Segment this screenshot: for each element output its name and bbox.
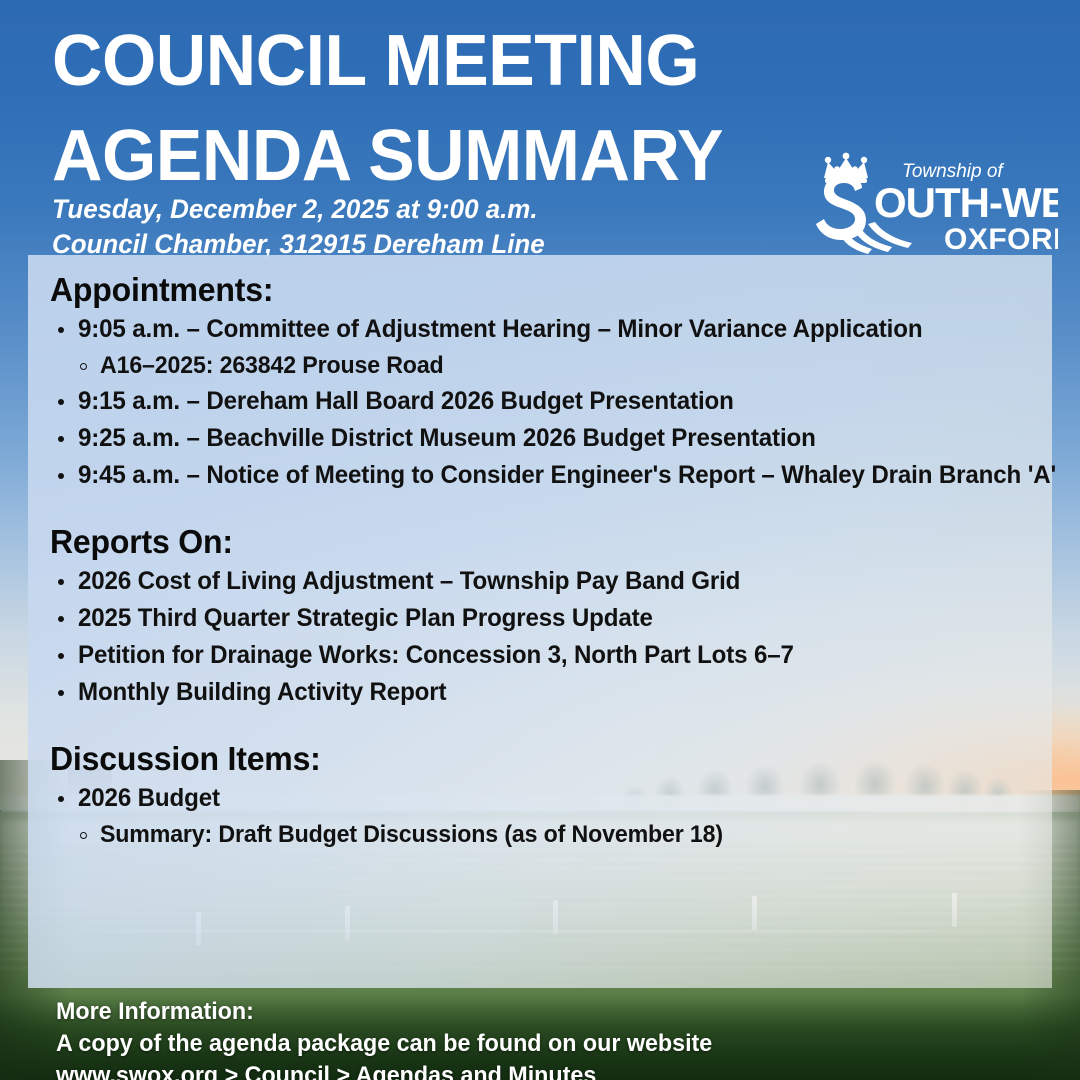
logo-line-main: OUTH-WEST (874, 179, 1058, 226)
agenda-list-level-1: 9:15 a.m. – Dereham Hall Board 2026 Budg… (54, 383, 1030, 493)
agenda-item: A16–2025: 263842 Prouse Road (76, 348, 1030, 383)
agenda-item: Petition for Drainage Works: Concession … (54, 637, 1030, 674)
footer-line: More Information: (56, 996, 793, 1028)
agenda-list-level-1: 9:05 a.m. – Committee of Adjustment Hear… (54, 311, 1030, 348)
footer-line[interactable]: www.swox.org > Council > Agendas and Min… (56, 1060, 793, 1080)
agenda-item-label: Petition for Drainage Works: Concession … (78, 637, 794, 674)
agenda-item-label: Monthly Building Activity Report (78, 674, 446, 711)
agenda-section: Appointments:9:05 a.m. – Committee of Ad… (50, 271, 1030, 493)
agenda-item: 2026 Cost of Living Adjustment – Townshi… (54, 563, 1030, 600)
agenda-item: 9:15 a.m. – Dereham Hall Board 2026 Budg… (54, 383, 1030, 420)
agenda-item-label: 9:15 a.m. – Dereham Hall Board 2026 Budg… (78, 383, 734, 420)
agenda-item: 2026 Budget (54, 780, 1030, 817)
agenda-panel: Appointments:9:05 a.m. – Committee of Ad… (28, 255, 1052, 988)
agenda-sections: Appointments:9:05 a.m. – Committee of Ad… (28, 271, 1052, 852)
section-heading: Reports On: (50, 523, 1001, 561)
title-line-2: AGENDA SUMMARY (52, 109, 723, 204)
poster-canvas: COUNCIL MEETING AGENDA SUMMARY Tuesday, … (0, 0, 1080, 1080)
section-heading: Discussion Items: (50, 740, 1001, 778)
logo-line-bottom: OXFORD (944, 223, 1058, 256)
meeting-details: Tuesday, December 2, 2025 at 9:00 a.m. C… (52, 192, 565, 261)
agenda-item-label: Summary: Draft Budget Discussions (as of… (100, 817, 723, 852)
agenda-item: Summary: Draft Budget Discussions (as of… (76, 817, 1030, 852)
agenda-item: 9:05 a.m. – Committee of Adjustment Hear… (54, 311, 1030, 348)
agenda-item-label: 9:05 a.m. – Committee of Adjustment Hear… (78, 311, 922, 348)
agenda-list-level-1: 2026 Budget (54, 780, 1030, 817)
title-line-1: COUNCIL MEETING (52, 14, 723, 109)
agenda-item-label: 9:45 a.m. – Notice of Meeting to Conside… (78, 457, 1056, 494)
agenda-item: Monthly Building Activity Report (54, 674, 1030, 711)
agenda-item-label: A16–2025: 263842 Prouse Road (100, 348, 444, 383)
township-logo: Township of OUTH-WEST OXFORD (810, 150, 1058, 258)
meeting-datetime: Tuesday, December 2, 2025 at 9:00 a.m. (52, 192, 545, 227)
township-logo-icon: Township of OUTH-WEST OXFORD (810, 150, 1058, 258)
agenda-item-label: 9:25 a.m. – Beachville District Museum 2… (78, 420, 816, 457)
agenda-list-level-2: A16–2025: 263842 Prouse Road (76, 348, 1030, 383)
agenda-list-level-1: 2026 Cost of Living Adjustment – Townshi… (54, 563, 1030, 710)
agenda-section: Reports On:2026 Cost of Living Adjustmen… (50, 523, 1030, 710)
poster-header: COUNCIL MEETING AGENDA SUMMARY Tuesday, … (0, 0, 1080, 258)
agenda-section: Discussion Items:2026 BudgetSummary: Dra… (50, 740, 1030, 852)
agenda-item-label: 2026 Cost of Living Adjustment – Townshi… (78, 563, 740, 600)
agenda-item-label: 2025 Third Quarter Strategic Plan Progre… (78, 600, 653, 637)
footer-line: A copy of the agenda package can be foun… (56, 1028, 793, 1060)
agenda-item: 9:45 a.m. – Notice of Meeting to Conside… (54, 457, 1030, 494)
page-title: COUNCIL MEETING AGENDA SUMMARY (52, 14, 744, 204)
agenda-item: 9:25 a.m. – Beachville District Museum 2… (54, 420, 1030, 457)
agenda-list-level-2: Summary: Draft Budget Discussions (as of… (76, 817, 1030, 852)
more-information-block: More Information:A copy of the agenda pa… (56, 996, 816, 1080)
section-heading: Appointments: (50, 271, 1001, 309)
agenda-item-label: 2026 Budget (78, 780, 220, 817)
agenda-item: 2025 Third Quarter Strategic Plan Progre… (54, 600, 1030, 637)
